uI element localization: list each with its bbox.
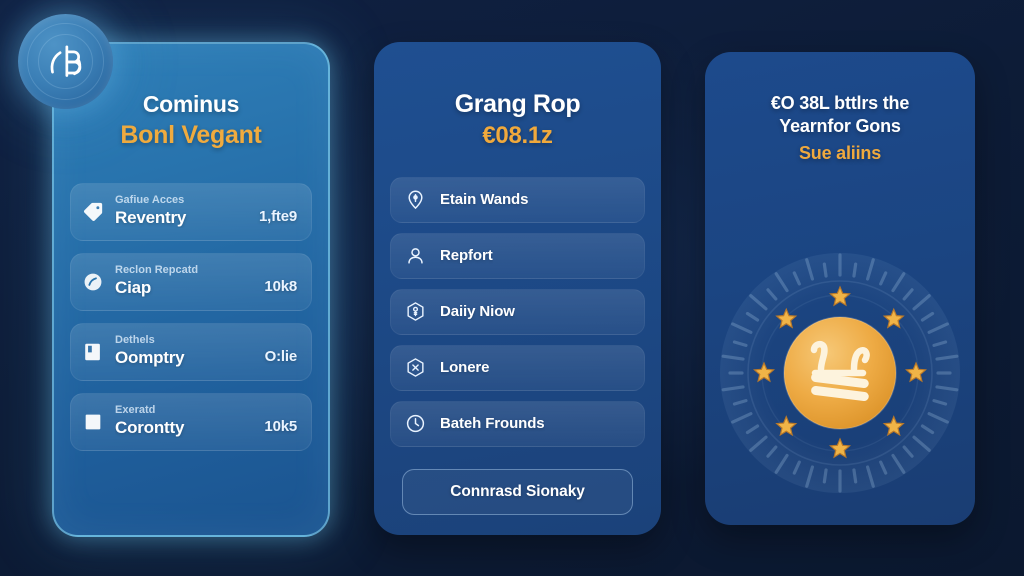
menu-card-title: Grang Rop <box>392 90 643 119</box>
stat-subtitle: Dethels <box>115 333 254 348</box>
menu-item-label: Etain Wands <box>440 191 528 208</box>
promo-line-2: Yearnfor Gons <box>727 115 953 138</box>
dashboard-stage: Cominus Bonl Vegant Gafiue Acces Reventr… <box>0 0 1024 576</box>
tag-icon <box>82 201 104 223</box>
menu-item-repfort[interactable]: Repfort <box>390 233 645 279</box>
stat-value: O:lie <box>265 348 297 365</box>
book-icon <box>82 341 104 363</box>
stat-text: Dethels Oomptry <box>115 333 254 368</box>
stat-value: 10k5 <box>264 418 297 435</box>
stat-row[interactable]: Dethels Oomptry O:lie <box>70 323 312 381</box>
location-pin-icon <box>405 189 426 210</box>
summary-heading-accent: Bonl Vegant <box>72 120 310 151</box>
menu-item-list: Etain Wands Repfort <box>374 173 661 447</box>
golden-badge-with-stars-icon <box>715 248 965 498</box>
menu-card-header: Grang Rop €08.1z <box>374 42 661 173</box>
stat-value: 1,fte9 <box>259 208 297 225</box>
stat-subtitle: Reclon Repcatd <box>115 263 253 278</box>
stat-value: 10k8 <box>264 278 297 295</box>
stat-title: Reventry <box>115 208 248 228</box>
stat-row[interactable]: Gafiue Acces Reventry 1,fte9 <box>70 183 312 241</box>
stat-title: Oomptry <box>115 348 254 368</box>
menu-card-amount: €08.1z <box>392 122 643 151</box>
promo-card: €O 38L bttlrs the Yearnfor Gons Sue alii… <box>705 52 975 525</box>
clipboard-icon <box>82 411 104 433</box>
promo-card-header: €O 38L bttlrs the Yearnfor Gons Sue alii… <box>705 52 975 165</box>
cta-container: Connrasd Sionaky <box>374 447 661 515</box>
stat-text: Reclon Repcatd Ciap <box>115 263 253 298</box>
summary-stat-list: Gafiue Acces Reventry 1,fte9 Reclon Repc… <box>54 177 328 451</box>
promo-accent-line: Sue aliins <box>727 142 953 165</box>
hexagon-key-icon <box>405 301 426 322</box>
shield-icon <box>82 271 104 293</box>
menu-item-etain-wands[interactable]: Etain Wands <box>390 177 645 223</box>
menu-item-daiiy-niow[interactable]: Daiiy Niow <box>390 289 645 335</box>
stat-subtitle: Exeratd <box>115 403 253 418</box>
stat-title: Ciap <box>115 278 253 298</box>
stat-subtitle: Gafiue Acces <box>115 193 248 208</box>
hexagon-close-icon <box>405 357 426 378</box>
brand-monogram-icon <box>39 35 93 89</box>
stat-row[interactable]: Reclon Repcatd Ciap 10k8 <box>70 253 312 311</box>
menu-item-label: Bateh Frounds <box>440 415 545 432</box>
menu-card: Grang Rop €08.1z Etain Wands <box>374 42 661 535</box>
brand-logo-badge[interactable]: B <box>18 14 113 109</box>
summary-card: Cominus Bonl Vegant Gafiue Acces Reventr… <box>52 42 330 537</box>
stat-text: Gafiue Acces Reventry <box>115 193 248 228</box>
stat-title: Corontty <box>115 418 253 438</box>
summary-heading-primary: Cominus <box>72 90 310 118</box>
menu-item-label: Lonere <box>440 359 489 376</box>
user-icon <box>405 245 426 266</box>
stat-text: Exeratd Corontty <box>115 403 253 438</box>
stat-row[interactable]: Exeratd Corontty 10k5 <box>70 393 312 451</box>
menu-item-label: Daiiy Niow <box>440 303 515 320</box>
menu-item-bateh-frounds[interactable]: Bateh Frounds <box>390 401 645 447</box>
clock-icon <box>405 413 426 434</box>
promo-line-1: €O 38L bttlrs the <box>727 92 953 115</box>
menu-item-label: Repfort <box>440 247 493 264</box>
menu-item-lonere[interactable]: Lonere <box>390 345 645 391</box>
connrasd-sionaky-button[interactable]: Connrasd Sionaky <box>402 469 633 515</box>
